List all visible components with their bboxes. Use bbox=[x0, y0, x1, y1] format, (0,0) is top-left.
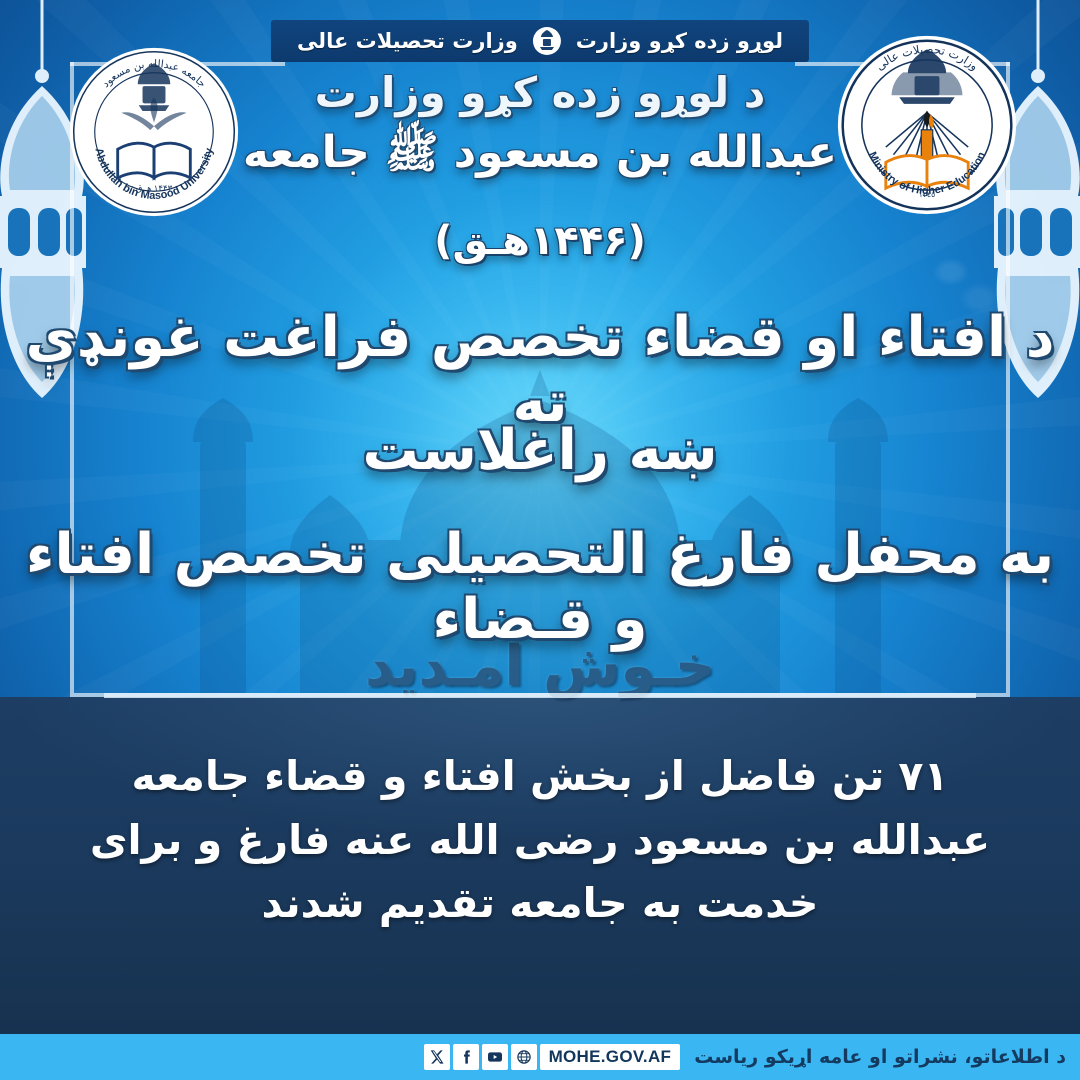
ghost-heading-1: د لوړو زده کړو وزارت bbox=[0, 68, 1080, 117]
body-paragraph: ۷۱ تن فاضل از بخش افتاء و قضاء جامعه عبد… bbox=[78, 745, 1002, 936]
facebook-icon[interactable] bbox=[453, 1044, 479, 1070]
hijri-year: (۱۴۴۶هـق) bbox=[0, 218, 1080, 264]
afghanistan-emblem-icon bbox=[532, 26, 562, 56]
horizontal-divider bbox=[104, 693, 976, 698]
top-banner-dari-label: وزارت تحصیلات عالی bbox=[297, 29, 518, 53]
ghost-heading-2: عبدالله بن مسعود ﷺ جامعه bbox=[0, 125, 1080, 189]
top-banner: لوړو زده کړو وزارت وزارت تحصیلات عالی bbox=[271, 20, 809, 62]
youtube-icon[interactable] bbox=[482, 1044, 508, 1070]
poster-canvas: ۱۴۴۳ هـ ق Abdullah bin Masood University… bbox=[0, 0, 1080, 1080]
social-chip-group: MOHE.GOV.AF bbox=[400, 1044, 681, 1070]
headline-dari-line-1: به محفل فارغ التحصیلی تخصص افتاء و قـضاء bbox=[18, 522, 1062, 652]
top-banner-pashto-label: لوړو زده کړو وزارت bbox=[576, 29, 783, 53]
website-url-chip[interactable]: MOHE.GOV.AF bbox=[540, 1044, 681, 1070]
x-twitter-icon[interactable] bbox=[424, 1044, 450, 1070]
globe-icon[interactable] bbox=[511, 1044, 537, 1070]
headline-pashto-line-2: ښه راغلاست bbox=[18, 418, 1062, 483]
footer-tagline: د اطلاعاتو، نشراتو او عامه اړیکو ریاست bbox=[694, 1046, 1066, 1068]
headline-pashto-line-1: د افتاء او قضاء تخصص فراغت غونډې ته bbox=[18, 305, 1062, 435]
footer-bar: MOHE.GOV.AF د اطلاعاتو، نشراتو او عامه ا… bbox=[0, 1034, 1080, 1080]
